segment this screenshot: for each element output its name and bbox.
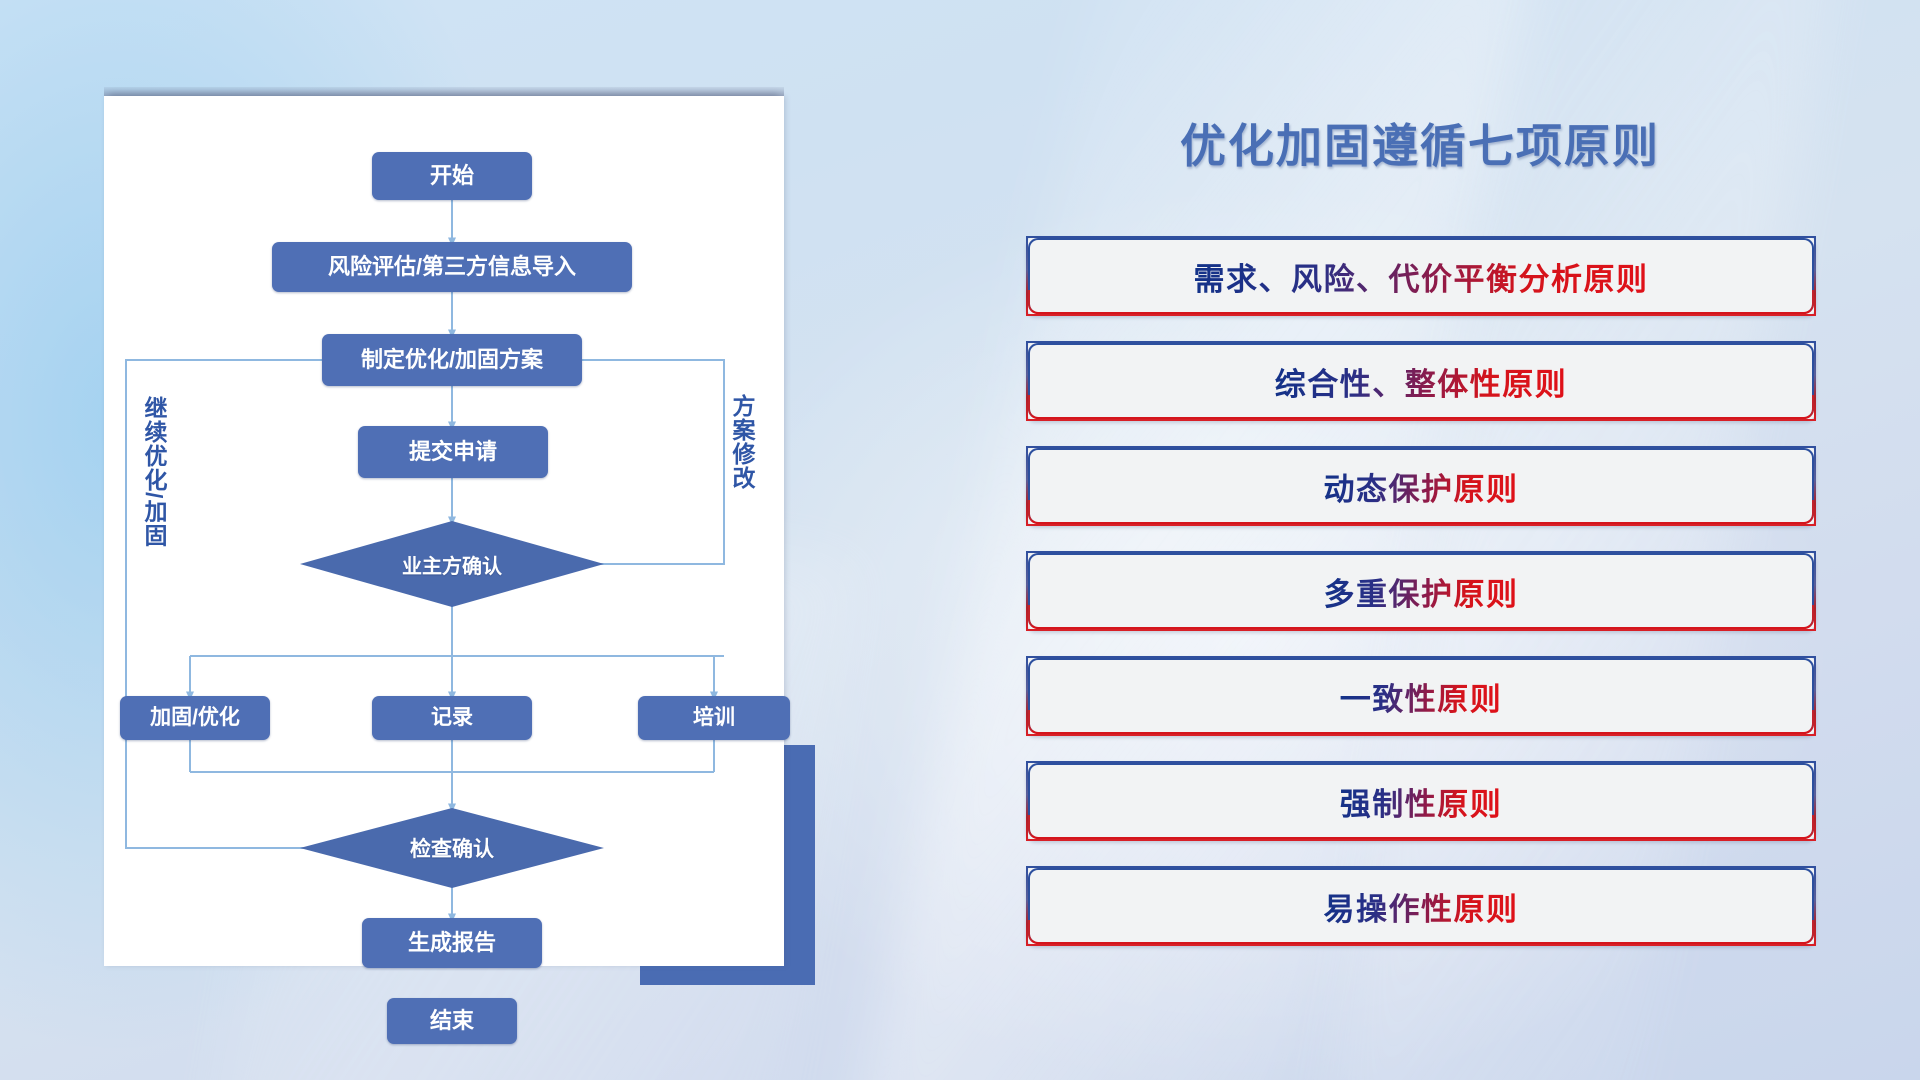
principle-item-label: 多重保护原则 xyxy=(1324,569,1519,614)
flow-edge-label-right: 方案修改 xyxy=(730,394,753,490)
principle-item[interactable]: 强制性原则 xyxy=(1026,761,1816,841)
flow-node-end[interactable]: 结束 xyxy=(387,998,517,1044)
flow-node-check-confirm[interactable]: 检查确认 xyxy=(300,808,604,888)
principle-item-label: 一致性原则 xyxy=(1340,674,1503,719)
flow-node-label: 生成报告 xyxy=(408,931,496,955)
flow-node-label: 记录 xyxy=(431,706,473,729)
flow-node-label: 业主方确认 xyxy=(402,550,502,579)
flow-node-label: 风险评估/第三方信息导入 xyxy=(328,255,576,279)
flow-edge-label-left: 继续优化/加固 xyxy=(142,396,165,547)
flow-node-owner-confirm[interactable]: 业主方确认 xyxy=(300,521,604,607)
principle-item-label: 动态保护原则 xyxy=(1324,464,1519,509)
flow-node-label: 开始 xyxy=(430,164,474,188)
principles-list: 需求、风险、代价平衡分析原则 综合性、整体性原则 动态保护原则 多重保护原则 一… xyxy=(1026,236,1816,971)
flow-node-label: 加固/优化 xyxy=(150,706,240,729)
principles-title: 优化加固遵循七项原则 xyxy=(1020,110,1820,176)
flowchart-card: 开始 风险评估/第三方信息导入 制定优化/加固方案 提交申请 业主方确认 加固/… xyxy=(104,96,784,966)
principle-item[interactable]: 多重保护原则 xyxy=(1026,551,1816,631)
flow-node-label: 检查确认 xyxy=(410,833,494,863)
flow-node-record[interactable]: 记录 xyxy=(372,696,532,740)
principle-item[interactable]: 易操作性原则 xyxy=(1026,866,1816,946)
slide-canvas: 开始 风险评估/第三方信息导入 制定优化/加固方案 提交申请 业主方确认 加固/… xyxy=(0,0,1920,1080)
principle-item-label: 需求、风险、代价平衡分析原则 xyxy=(1194,254,1649,299)
flow-node-submit-application[interactable]: 提交申请 xyxy=(358,426,548,478)
flow-node-risk-assessment[interactable]: 风险评估/第三方信息导入 xyxy=(272,242,632,292)
principle-item-label: 强制性原则 xyxy=(1340,779,1503,824)
flow-node-generate-report[interactable]: 生成报告 xyxy=(362,918,542,968)
principle-item-label: 综合性、整体性原则 xyxy=(1275,359,1568,404)
flow-node-label: 提交申请 xyxy=(409,440,497,464)
flow-node-training[interactable]: 培训 xyxy=(638,696,790,740)
principle-item-label: 易操作性原则 xyxy=(1324,884,1519,929)
flow-node-plan[interactable]: 制定优化/加固方案 xyxy=(322,334,582,386)
flow-node-label: 结束 xyxy=(430,1009,474,1033)
flow-node-label-wrap: 业主方确认 xyxy=(300,521,604,607)
flow-node-start[interactable]: 开始 xyxy=(372,152,532,200)
principle-item[interactable]: 动态保护原则 xyxy=(1026,446,1816,526)
flow-node-label: 培训 xyxy=(693,706,735,729)
flow-node-label-wrap: 检查确认 xyxy=(300,808,604,888)
flow-node-label: 制定优化/加固方案 xyxy=(361,348,543,372)
flow-node-reinforce[interactable]: 加固/优化 xyxy=(120,696,270,740)
principle-item[interactable]: 一致性原则 xyxy=(1026,656,1816,736)
principle-item[interactable]: 综合性、整体性原则 xyxy=(1026,341,1816,421)
principle-item[interactable]: 需求、风险、代价平衡分析原则 xyxy=(1026,236,1816,316)
